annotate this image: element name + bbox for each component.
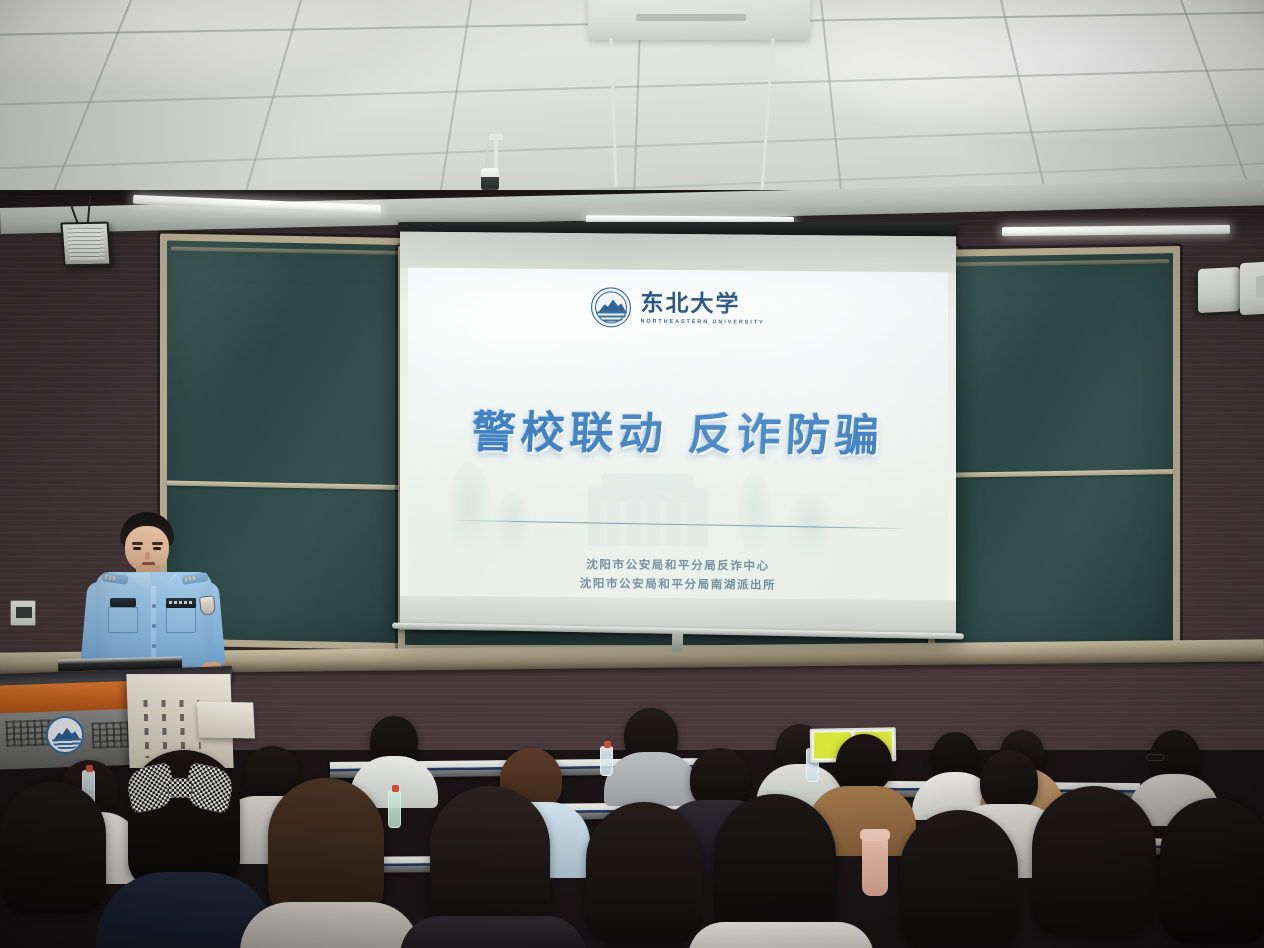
attendee-torso-foreground <box>240 902 420 948</box>
projection-screen-pull-tab[interactable] <box>672 632 683 652</box>
attendee-torso-foreground <box>400 916 586 948</box>
campus-tree <box>738 473 772 551</box>
attendee-head-foreground <box>0 782 106 914</box>
university-name-cn: 东北大学 <box>640 291 740 315</box>
attendee-head-foreground <box>714 794 836 942</box>
wall-control-panel[interactable] <box>10 600 36 626</box>
presenter-chest-pocket <box>166 607 196 633</box>
presenter-name-tag <box>166 598 196 608</box>
presenter-chest-badge <box>110 598 136 607</box>
water-bottle <box>388 790 401 828</box>
slide-subtitle-line-2: 沈阳市公安局和平分局南湖派出所 <box>408 573 948 597</box>
attendee-head-foreground <box>586 802 702 942</box>
presenter-eyebrow <box>132 542 143 545</box>
bow-knot <box>168 778 192 798</box>
presenter-shirt-button <box>152 624 156 628</box>
slide-subtitle: 沈阳市公安局和平分局反诈中心 沈阳市公安局和平分局南湖派出所 <box>408 554 948 597</box>
slide-title: 警校联动 反诈防骗 <box>408 396 948 465</box>
attendee-head <box>836 734 892 792</box>
attendee-torso-foreground <box>688 922 874 948</box>
attendee-head-foreground <box>1160 798 1264 944</box>
eyeglasses-icon <box>1146 754 1164 761</box>
wall-speaker <box>60 222 111 267</box>
presenter-eyebrow <box>152 542 163 545</box>
presenter-eye <box>153 547 161 550</box>
attendee-head <box>980 750 1038 812</box>
blackboard-top-trim <box>171 247 419 256</box>
presenter-eye <box>133 547 141 550</box>
attendee-head-foreground <box>1032 786 1156 936</box>
water-bottle <box>600 746 613 776</box>
campus-building <box>588 487 708 546</box>
blackboard-divider-rail <box>935 469 1173 478</box>
wall-panel <box>1198 267 1240 313</box>
slide-university-logo: 东北大学 NORTHEASTERN UNIVERSITY <box>408 286 948 331</box>
attendee-head-foreground <box>430 786 550 932</box>
attendee-head-foreground <box>900 810 1018 948</box>
thermos-cup <box>862 836 888 896</box>
seal-mountain-shape <box>598 297 626 312</box>
presenter-shirt-button <box>152 604 156 608</box>
campus-tree <box>448 462 490 548</box>
ceiling-camera <box>481 168 499 190</box>
presenter-chest-pocket <box>108 607 138 633</box>
audience-seating: GFAGRAS <box>0 690 1264 948</box>
university-name-en: NORTHEASTERN UNIVERSITY <box>640 318 764 325</box>
blackboard-right <box>928 246 1180 662</box>
blackboard-glare <box>935 253 1173 655</box>
lecture-hall-photo: 东北大学 NORTHEASTERN UNIVERSITY 警校联动 反诈防骗 沈… <box>0 0 1264 948</box>
presenter-shirt-button <box>152 644 156 648</box>
ceiling-tile-seam <box>0 122 1264 170</box>
campus-tree <box>496 492 530 552</box>
presenter-nose <box>145 552 150 560</box>
attendee-head-foreground <box>268 778 384 918</box>
neu-seal-icon <box>591 287 631 327</box>
projection-screen: 东北大学 NORTHEASTERN UNIVERSITY 警校联动 反诈防骗 沈… <box>400 232 956 635</box>
blackboard-top-trim <box>939 259 1169 267</box>
screen-top-margin <box>400 232 956 273</box>
ceiling-camera-stalk <box>494 138 498 172</box>
wall-panel <box>1240 261 1264 315</box>
presentation-slide: 东北大学 NORTHEASTERN UNIVERSITY 警校联动 反诈防骗 沈… <box>408 268 948 603</box>
ceiling-projector-mount <box>588 0 810 40</box>
logo-wordmark: 东北大学 NORTHEASTERN UNIVERSITY <box>640 291 764 325</box>
blackboard-divider-rail <box>167 481 423 491</box>
seal-water-shape <box>597 311 627 321</box>
houndstooth-hair-bow <box>128 762 232 818</box>
ceiling-light-glow-secondary <box>0 0 380 90</box>
presenter-shoulder-patch <box>199 595 216 615</box>
